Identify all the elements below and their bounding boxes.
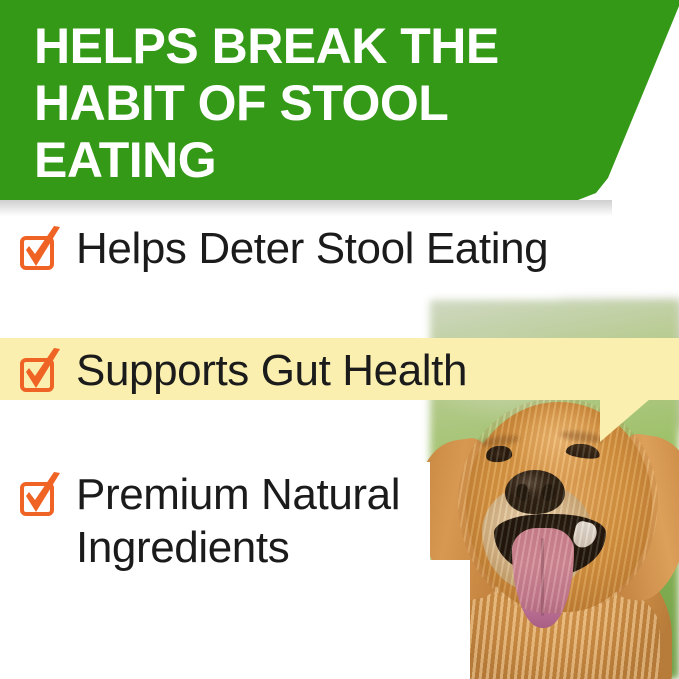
dog-tongue-crease [541,538,544,616]
checkbox-checked-icon [16,228,62,274]
product-feature-poster: HELPS BREAK THE HABIT OF STOOL EATING He… [0,0,679,679]
benefit-item-2: Supports Gut Health [16,344,666,397]
benefit-label-3: Premium Natural Ingredients [76,468,506,574]
checkmark-glyph [24,226,62,270]
checkbox-checked-icon [16,474,62,520]
benefit-label-1: Helps Deter Stool Eating [76,222,548,275]
checkbox-checked-icon [16,350,62,396]
header-banner: HELPS BREAK THE HABIT OF STOOL EATING [0,0,679,205]
checkmark-glyph [24,472,62,516]
benefit-label-2: Supports Gut Health [76,344,467,397]
benefit-item-3: Premium Natural Ingredients [16,468,536,574]
checkmark-glyph [24,348,62,392]
benefit-item-1: Helps Deter Stool Eating [16,222,666,275]
page-title: HELPS BREAK THE HABIT OF STOOL EATING [34,18,634,189]
